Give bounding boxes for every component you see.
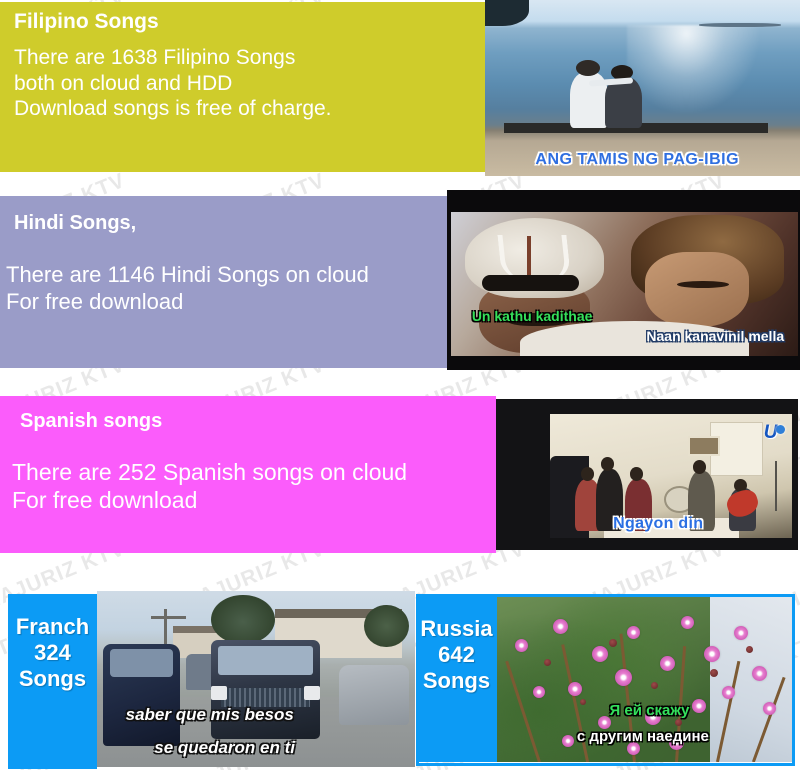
channel-logo-u: U	[764, 422, 778, 444]
filipino-title: Filipino Songs	[0, 2, 485, 33]
jeep-headlight-left	[211, 686, 227, 700]
pink-flower	[615, 669, 632, 686]
spanish-video-inner: U Ngayon din	[550, 414, 792, 538]
flower-bud	[746, 646, 753, 653]
pink-flower	[692, 699, 706, 713]
hindi-video-inner: Un kathu kadithae Naan kanavinil mella	[451, 212, 798, 356]
mic-stand	[775, 461, 777, 511]
russia-label-line-1: Russia	[416, 616, 497, 642]
hindi-sunglasses	[482, 275, 579, 291]
pink-flower	[681, 616, 694, 629]
pink-flower	[763, 702, 776, 715]
flower-bud	[675, 719, 682, 726]
pink-flower	[627, 626, 640, 639]
flower-bud	[651, 682, 658, 689]
wall-picture	[688, 436, 719, 456]
page-root: HAJURIZ KTVHAJURIZ KTVHAJURIZ KTVHAJURIZ…	[0, 0, 800, 770]
video-thumbnail-french: saber que mis besos se quedaron en ti	[97, 591, 415, 767]
flower-stem	[752, 677, 785, 762]
label-box-russia: Russia 642 Songs	[416, 596, 497, 762]
video-thumbnail-filipino: ANG TAMIS NG PAG-IBIG	[485, 0, 800, 176]
pink-flower	[660, 656, 675, 671]
hindi-woman-face	[645, 252, 749, 327]
band-member-1-head	[581, 467, 594, 481]
flower-stem	[506, 661, 542, 762]
pink-flower	[553, 619, 568, 634]
pink-flower	[752, 666, 767, 681]
hindi-forehead-mark-red	[527, 236, 531, 276]
tree-right	[364, 605, 409, 647]
french-label-line-1: Franch	[8, 614, 97, 640]
pink-flower	[533, 686, 545, 698]
filipino-body: There are 1638 Filipino Songs both on cl…	[0, 33, 485, 122]
video-thumbnail-spanish: U Ngayon din	[496, 399, 798, 550]
channel-logo-dot	[776, 425, 785, 434]
spanish-body: There are 252 Spanish songs on cloud For…	[0, 432, 496, 514]
spanish-title: Spanish songs	[0, 396, 496, 432]
karaoke-subtitle-french-line2: se quedaron en ti	[154, 738, 295, 758]
pink-flower	[562, 735, 574, 747]
french-label-line-2: 324	[8, 640, 97, 666]
pink-flower	[722, 686, 735, 699]
band-member-4-head	[693, 460, 706, 474]
label-box-french: Franch 324 Songs	[8, 594, 97, 769]
panel-filipino-songs: Filipino Songs There are 1638 Filipino S…	[0, 2, 485, 172]
far-island	[699, 23, 781, 27]
jeep-windshield	[218, 646, 313, 676]
russia-label-line-3: Songs	[416, 668, 497, 694]
flower-bud	[580, 699, 586, 705]
pink-flower	[515, 639, 528, 652]
pink-flower	[568, 682, 582, 696]
french-label-line-3: Songs	[8, 666, 97, 692]
karaoke-subtitle-russia-line2: с другим наедине	[577, 728, 709, 745]
panel-hindi-songs: Hindi Songs, There are 1146 Hindi Songs …	[0, 196, 447, 368]
jeep-headlight-right	[304, 686, 320, 700]
karaoke-subtitle-filipino: ANG TAMIS NG PAG-IBIG	[535, 151, 739, 169]
karaoke-subtitle-hindi-line1: Un kathu kadithae	[472, 308, 593, 324]
headland-rock	[485, 0, 529, 26]
van-window	[110, 649, 174, 677]
parked-car-right	[339, 665, 409, 725]
karaoke-subtitle-french-line1: saber que mis besos	[126, 705, 294, 725]
pink-flower	[704, 646, 720, 662]
russia-label-line-2: 642	[416, 642, 497, 668]
figure-man-head	[576, 60, 600, 76]
karaoke-subtitle-spanish: Ngayon din	[613, 515, 703, 533]
flower-bud	[544, 659, 551, 666]
video-thumbnail-russia: Я ей скажу с другим наедине	[497, 596, 793, 762]
hindi-body: There are 1146 Hindi Songs on cloud For …	[0, 234, 447, 316]
video-thumbnail-hindi: Un kathu kadithae Naan kanavinil mella	[447, 190, 800, 370]
hindi-title: Hindi Songs,	[0, 196, 447, 234]
karaoke-subtitle-russia-line1: Я ей скажу	[609, 702, 689, 719]
karaoke-subtitle-hindi-line2: Naan kanavinil mella	[646, 328, 784, 344]
figure-woman	[605, 77, 643, 128]
panel-spanish-songs: Spanish songs There are 252 Spanish song…	[0, 396, 496, 553]
flower-stem	[716, 661, 740, 762]
sun-glitter	[627, 25, 759, 113]
pink-flower	[734, 626, 748, 640]
flower-bud	[609, 639, 617, 647]
utility-pole-crossarm	[151, 616, 186, 619]
tree-center	[211, 595, 275, 644]
pink-flower	[592, 646, 608, 662]
flower-bud	[710, 669, 718, 677]
